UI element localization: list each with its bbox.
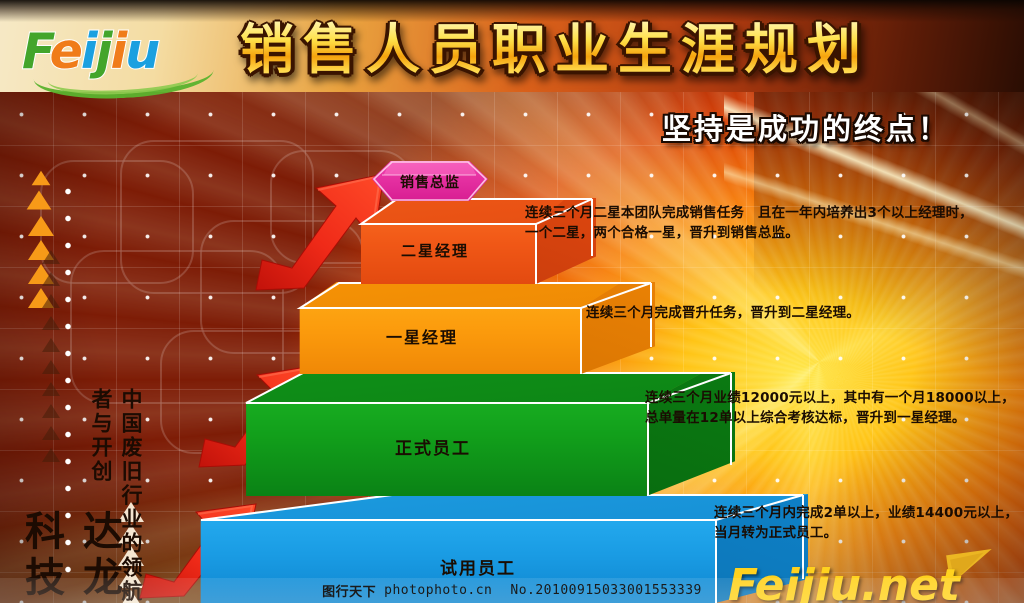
triangle-marker-icon xyxy=(28,216,54,236)
pyramid-tier-5[interactable]: 销售总监 xyxy=(372,161,488,201)
left-dark-triangle-column xyxy=(42,250,66,500)
feijiu-logo[interactable]: Feijiu xyxy=(22,26,228,88)
watermark-bar: 图行天下 photophoto.cn No.201009150330015533… xyxy=(0,578,1024,603)
pyramid-tier-1-label: 试用员工 xyxy=(148,554,808,579)
pyramid-tier-3-label: 一星经理 xyxy=(237,324,607,348)
page-title: 销售人员职业生涯规划 xyxy=(240,16,1000,86)
watermark-source-cn: 图行天下 xyxy=(322,581,376,600)
description-two-star-manager: 连续三个月完成晋升任务，晋升到二星经理。 xyxy=(586,303,986,323)
page-subtitle: 坚持是成功的终点！ xyxy=(662,106,950,148)
pyramid-tier-4-label: 二星经理 xyxy=(310,240,560,261)
watermark-source-site: photophoto.cn xyxy=(384,583,492,598)
poster-canvas: Feijiu 销售人员职业生涯规划 坚持是成功的终点！ 中国废旧行业的领航者与开… xyxy=(0,0,1024,603)
triangle-marker-icon xyxy=(32,171,51,185)
description-one-star-manager: 连续三个月业绩12000元以上，其中有一个月18000以上， 总单量在12单以上… xyxy=(645,388,1024,428)
description-formal-employee: 连续三个月内完成2单以上，业绩14400元以上， 当月转为正式员工。 xyxy=(714,503,1024,543)
triangle-marker-icon xyxy=(27,191,52,210)
pyramid-tier-3[interactable]: 一星经理 xyxy=(285,282,655,374)
pyramid-tier-2-label: 正式员工 xyxy=(173,434,693,459)
watermark-number: No.20100915033001553339 xyxy=(510,583,702,598)
description-sales-director: 连续三个月二星本团队完成销售任务 且在一年内培养出3个以上经理时， 一个二星，两… xyxy=(525,203,995,243)
pyramid-tier-5-label: 销售总监 xyxy=(372,172,488,192)
logo-letter-f: F xyxy=(22,23,50,80)
